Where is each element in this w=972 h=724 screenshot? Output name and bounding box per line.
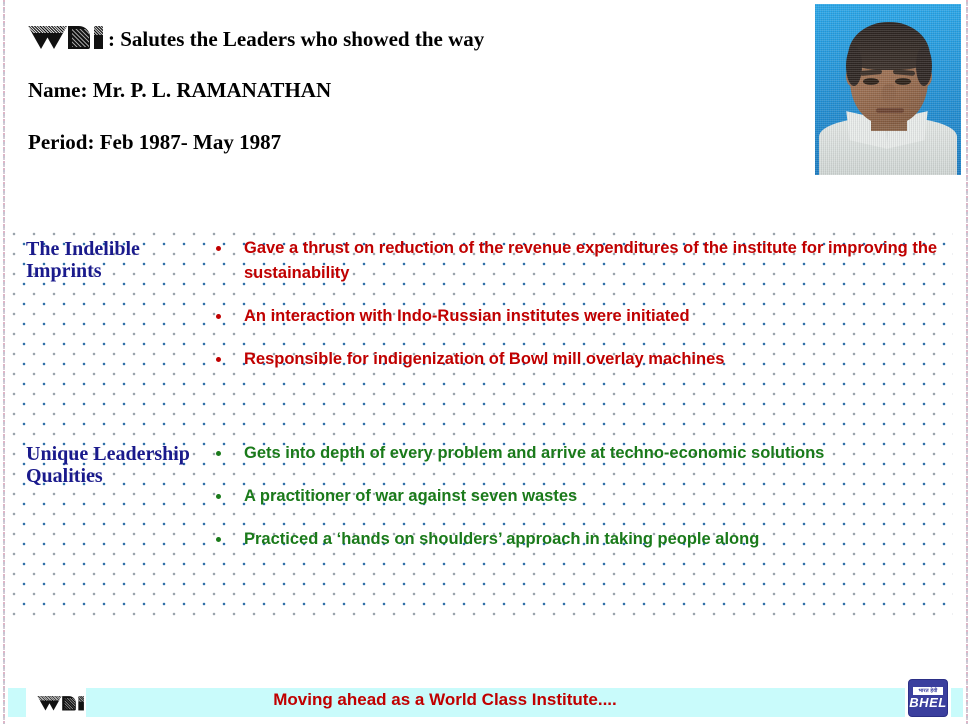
header-title-text: : Salutes the Leaders who showed the way: [108, 27, 484, 51]
content-panel: The Indelible Imprints Gave a thrust on …: [12, 232, 953, 617]
header-title-line: : Salutes the Leaders who showed the way: [28, 24, 484, 52]
slide-footer: Moving ahead as a World Class Institute.…: [0, 686, 972, 720]
section-label-unique-leadership-qualities: Unique Leadership Qualities: [26, 443, 194, 488]
leader-portrait-photo: [815, 4, 961, 175]
wri-logo-icon: [28, 24, 108, 50]
bhel-badge: भारत हेवी BHEL: [908, 679, 948, 717]
slide-root: : Salutes the Leaders who showed the way…: [0, 0, 972, 724]
section-label-indelible-imprints: The Indelible Imprints: [26, 238, 194, 283]
bullet-item: Responsible for indigenization of Bowl m…: [200, 347, 940, 372]
leader-period: Period: Feb 1987- May 1987: [28, 130, 281, 155]
bullet-item: A practitioner of war against seven wast…: [200, 484, 940, 509]
bhel-logo-icon: भारत हेवी BHEL: [905, 676, 951, 720]
leader-name: Name: Mr. P. L. RAMANATHAN: [28, 78, 331, 103]
footer-tagline: Moving ahead as a World Class Institute.…: [0, 690, 890, 710]
bullet-item: Gave a thrust on reduction of the revenu…: [200, 236, 940, 286]
bullet-list-indelible-imprints: Gave a thrust on reduction of the revenu…: [200, 236, 940, 390]
leader-portrait-frame: [815, 4, 961, 175]
right-edge-border: [966, 0, 968, 724]
bullet-item: Gets into depth of every problem and arr…: [200, 441, 940, 466]
bhel-wordmark: BHEL: [909, 696, 946, 709]
bhel-devanagari-text: भारत हेवी: [913, 687, 943, 695]
bullet-item: Practiced a ‘hands on shoulders’ approac…: [200, 527, 940, 552]
slide-header: : Salutes the Leaders who showed the way…: [0, 0, 820, 190]
bullet-item: An interaction with Indo-Russian institu…: [200, 304, 940, 329]
bullet-list-unique-leadership-qualities: Gets into depth of every problem and arr…: [200, 441, 940, 570]
